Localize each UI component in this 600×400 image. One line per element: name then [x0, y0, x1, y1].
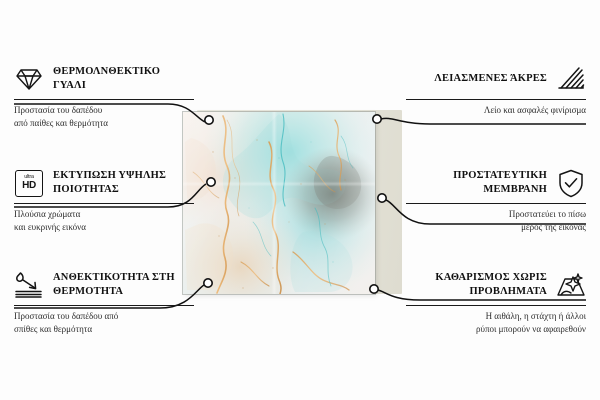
feature-title: ΘΕΡΜΟΛΝΘΕΚΤΙΚΟ ΓΥΑΛΙ — [53, 65, 194, 93]
feature-subtitle: Προστασία του δαπέδου από σπίθες και θερ… — [14, 310, 194, 336]
smooth-edges-icon — [556, 64, 586, 94]
feature-title: ΚΑΘΑΡΙΣΜΟΣ ΧΩΡΙΣ ΠΡΟΒΛΗΜΑΤΑ — [406, 271, 547, 299]
diamond-icon — [14, 64, 44, 94]
feature-left-1: ΘΕΡΜΟΛΝΘΕΚΤΙΚΟ ΓΥΑΛΙ Προστασία του δαπέδ… — [14, 62, 194, 130]
shield-check-icon — [556, 168, 586, 198]
feature-left-2: ultra HD ΕΚΤΥΠΩΣΗ ΥΨΗΛΗΣ ΠΟΙΟΤΗΤΑΣ Πλούσ… — [14, 166, 194, 234]
feature-divider — [14, 305, 194, 306]
feature-divider — [406, 99, 586, 100]
feature-right-2: ΠΡΟΣΤΑΤΕΥΤΙΚΗ ΜΕΜΒΡΑΝΗ Προστατεύει το πί… — [406, 166, 586, 234]
feature-divider — [406, 305, 586, 306]
feature-left-3: ΑΝΘΕΚΤΙΚΟΤΗΤΑ ΣΤΗ ΘΕΡΜΟΤΗΤΑ Προστασία το… — [14, 268, 194, 336]
feature-title: ΑΝΘΕΚΤΙΚΟΤΗΤΑ ΣΤΗ ΘΕΡΜΟΤΗΤΑ — [53, 271, 194, 299]
feature-title: ΠΡΟΣΤΑΤΕΥΤΙΚΗ ΜΕΜΒΡΑΝΗ — [406, 169, 547, 197]
feature-title: ΕΚΤΥΠΩΣΗ ΥΨΗΛΗΣ ΠΟΙΟΤΗΤΑΣ — [53, 169, 194, 197]
feature-header: ΠΡΟΣΤΑΤΕΥΤΙΚΗ ΜΕΜΒΡΑΝΗ — [406, 166, 586, 200]
heat-resistance-icon — [14, 270, 44, 300]
feature-divider — [406, 203, 586, 204]
product-panel — [183, 112, 402, 294]
feature-subtitle: Πλούσια χρώματα και ευκρινής εικόνα — [14, 208, 194, 234]
feature-divider — [14, 203, 194, 204]
feature-subtitle: Προστασία του δαπέδου από παίθες και θερ… — [14, 104, 194, 130]
infographic-canvas: ΘΕΡΜΟΛΝΘΕΚΤΙΚΟ ΓΥΑΛΙ Προστασία του δαπέδ… — [0, 0, 600, 400]
easy-clean-icon — [556, 270, 586, 300]
feature-header: ultra HD ΕΚΤΥΠΩΣΗ ΥΨΗΛΗΣ ΠΟΙΟΤΗΤΑΣ — [14, 166, 194, 200]
feature-header: ΑΝΘΕΚΤΙΚΟΤΗΤΑ ΣΤΗ ΘΕΡΜΟΤΗΤΑ — [14, 268, 194, 302]
glass-print-image — [183, 112, 375, 294]
feature-header: ΛΕΙΑΣΜΕΝΕΣ ΆΚΡΕΣ — [406, 62, 586, 96]
ultra-hd-icon: ultra HD — [14, 168, 44, 198]
ultra-hd-bottom-label: HD — [22, 181, 36, 191]
feature-title: ΛΕΙΑΣΜΕΝΕΣ ΆΚΡΕΣ — [406, 72, 547, 86]
feature-subtitle: Η αιθάλη, η στάχτη ή άλλοι ρύποι μπορούν… — [406, 310, 586, 336]
feature-subtitle: Προστατεύει το πίσω μέρος της εικόνας — [406, 208, 586, 234]
feature-subtitle: Λείο και ασφαλές φινίρισμα — [406, 104, 586, 117]
feature-header: ΘΕΡΜΟΛΝΘΕΚΤΙΚΟ ΓΥΑΛΙ — [14, 62, 194, 96]
feature-divider — [14, 99, 194, 100]
marble-artwork — [183, 112, 375, 294]
connector-right-1 — [381, 118, 586, 124]
feature-right-1: ΛΕΙΑΣΜΕΝΕΣ ΆΚΡΕΣ Λείο και ασφαλές φινίρι… — [406, 62, 586, 117]
feature-right-3: ΚΑΘΑΡΙΣΜΟΣ ΧΩΡΙΣ ΠΡΟΒΛΗΜΑΤΑ Η αιθάλη, η … — [406, 268, 586, 336]
feature-header: ΚΑΘΑΡΙΣΜΟΣ ΧΩΡΙΣ ΠΡΟΒΛΗΜΑΤΑ — [406, 268, 586, 302]
